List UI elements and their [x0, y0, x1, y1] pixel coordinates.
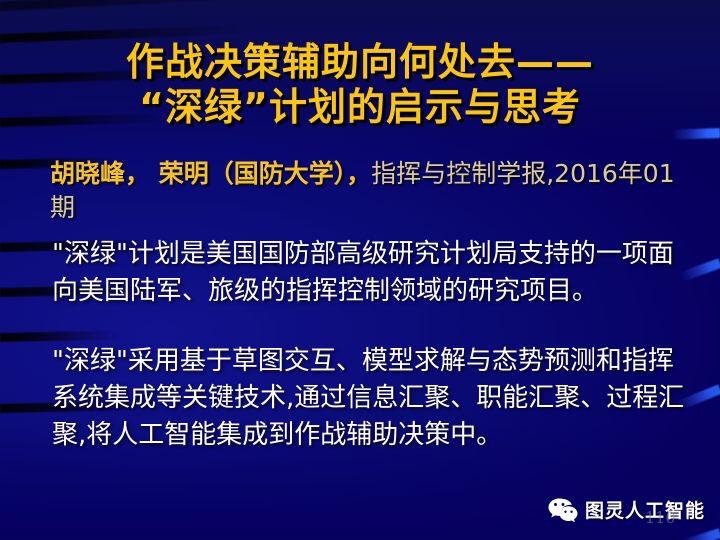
- slide-title: 作战决策辅助向何处去—— “深绿”计划的启示与思考: [0, 40, 720, 130]
- slide-canvas: 作战决策辅助向何处去—— “深绿”计划的启示与思考 胡晓峰， 荣明（国防大学），…: [0, 0, 720, 540]
- byline: 胡晓峰， 荣明（国防大学），指挥与控制学报,2016年01期: [50, 157, 698, 225]
- body-paragraph-2: "深绿"采用基于草图交互、模型求解与态势预测和指挥系统集成等关键技术,通过信息汇…: [52, 343, 698, 454]
- byline-authors: 胡晓峰， 荣明（国防大学），: [50, 159, 371, 188]
- wechat-icon: [548, 497, 578, 522]
- page-number: 110: [645, 508, 676, 527]
- body-paragraph-1: "深绿"计划是美国国防部高级研究计划局支持的一项面向美国陆军、旅级的指挥控制领域…: [52, 236, 698, 310]
- footer-logo: 图灵人工智能: [548, 496, 705, 523]
